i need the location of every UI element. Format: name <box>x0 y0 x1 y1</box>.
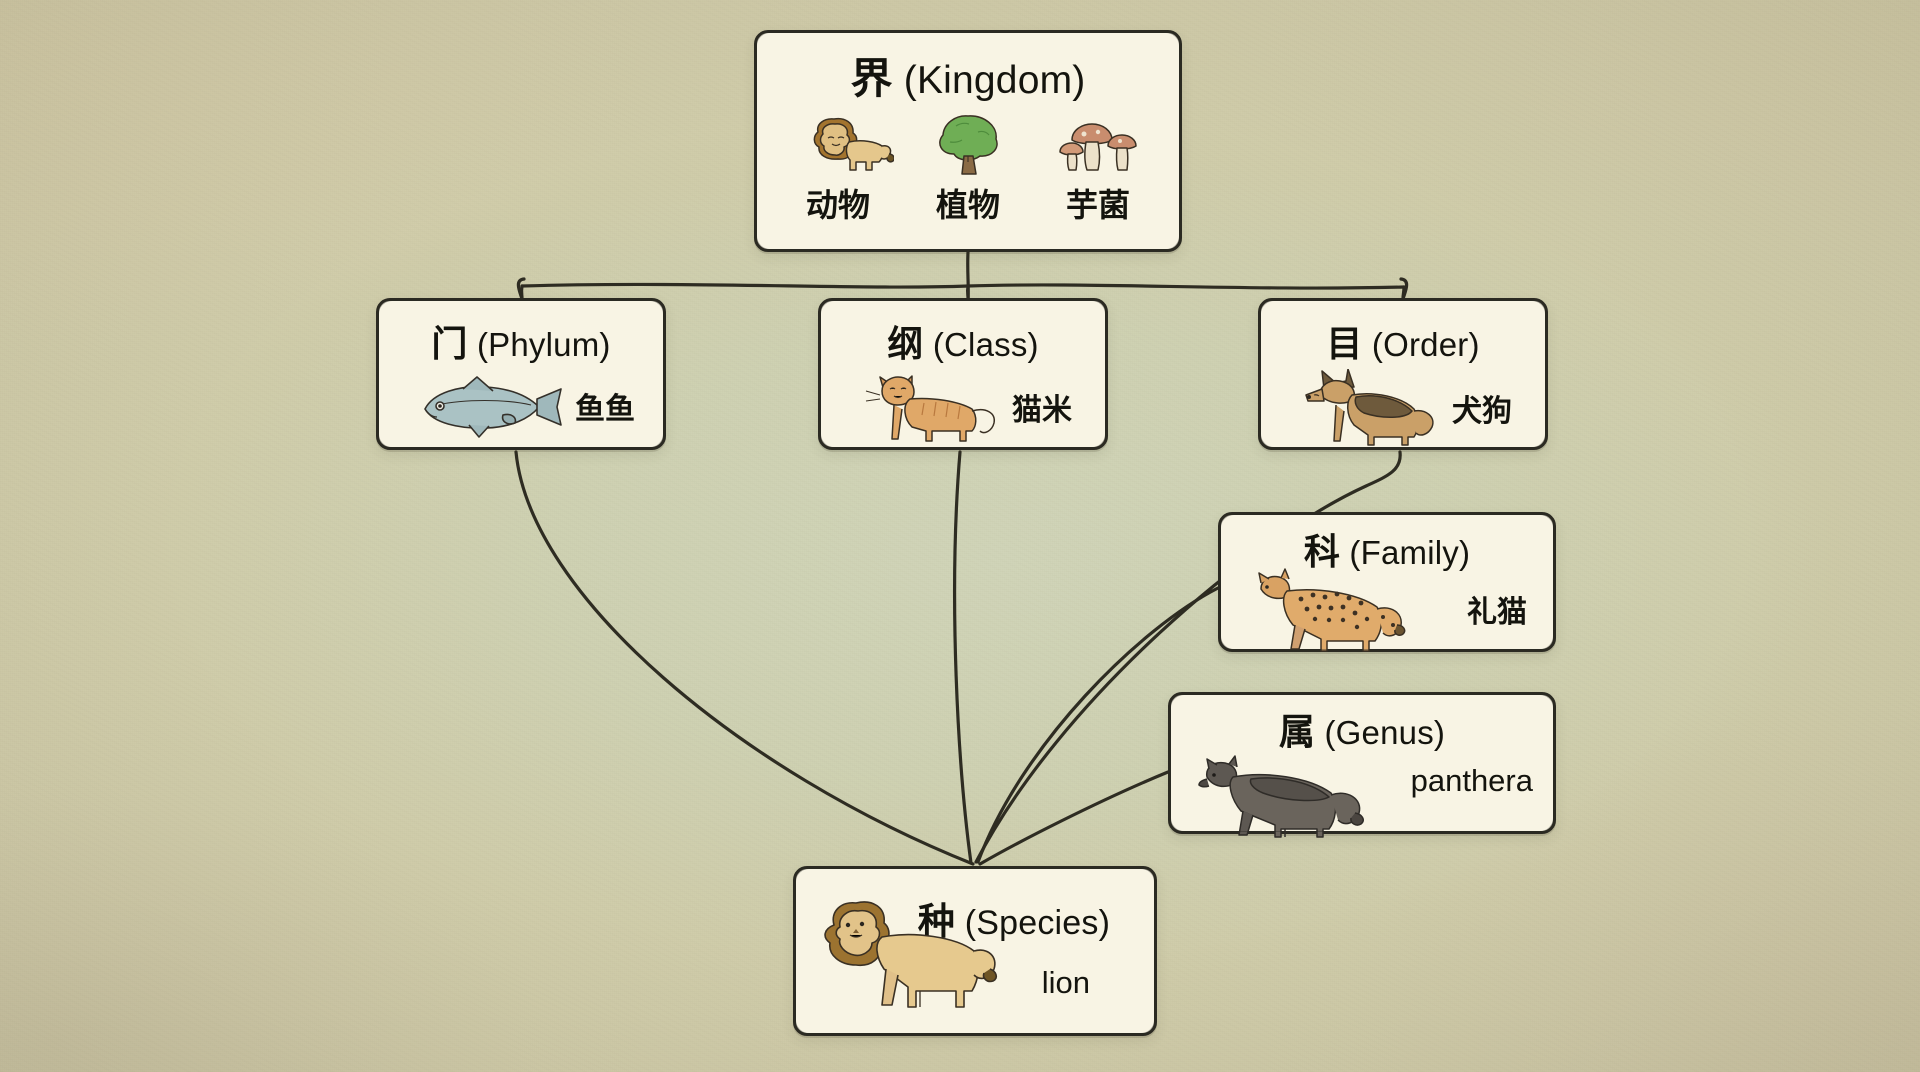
cat-icon <box>854 369 1004 445</box>
order-body: 犬狗 <box>1261 369 1545 447</box>
class-rank-latin: (Class) <box>933 326 1039 363</box>
family-caption: 礼猫 <box>1467 587 1527 631</box>
class-caption: 猫米 <box>1012 385 1072 429</box>
node-kingdom[interactable]: 界 (Kingdom) 动物 <box>754 30 1182 252</box>
order-rank-han: 目 <box>1326 324 1362 365</box>
class-title: 纲 (Class) <box>821 315 1105 367</box>
kingdom-caption-fungus: 芋菌 <box>1066 180 1130 226</box>
phylum-caption: 鱼鱼 <box>575 384 635 428</box>
kingdom-example-animal[interactable]: 动物 <box>779 112 897 226</box>
phylum-rank-han: 门 <box>431 324 467 365</box>
phylum-body: 鱼鱼 <box>379 369 663 443</box>
leopard-icon <box>1231 563 1413 655</box>
order-title: 目 (Order) <box>1261 315 1545 367</box>
family-body: 礼猫 <box>1221 575 1553 661</box>
node-class[interactable]: 纲 (Class) 猫米 <box>818 298 1108 450</box>
node-order[interactable]: 目 (Order) 犬狗 <box>1258 298 1548 450</box>
kingdom-caption-plant: 植物 <box>936 180 1000 226</box>
genus-body: panthera <box>1171 755 1553 841</box>
genus-caption: panthera <box>1411 763 1533 799</box>
panther-icon <box>1181 743 1377 839</box>
species-caption: lion <box>1042 965 1090 1001</box>
node-genus[interactable]: 属 (Genus) panthera <box>1168 692 1556 834</box>
tree-icon <box>912 112 1024 178</box>
lion-icon <box>782 112 894 178</box>
lion-icon <box>810 895 1000 1013</box>
kingdom-example-fungus[interactable]: 芋菌 <box>1039 112 1157 226</box>
order-rank-latin: (Order) <box>1372 326 1480 363</box>
phylum-title: 门 (Phylum) <box>379 315 663 367</box>
kingdom-examples: 动物 植物 <box>757 112 1179 226</box>
phylum-rank-latin: (Phylum) <box>477 326 611 363</box>
node-species[interactable]: 种 (Species) lion <box>793 866 1157 1036</box>
kingdom-rank-latin: (Kingdom) <box>904 59 1086 102</box>
mushroom-icon <box>1042 112 1154 178</box>
node-phylum[interactable]: 门 (Phylum) 鱼鱼 <box>376 298 666 450</box>
kingdom-example-plant[interactable]: 植物 <box>909 112 1027 226</box>
class-rank-han: 纲 <box>887 324 923 365</box>
node-family[interactable]: 科 (Family) <box>1218 512 1556 652</box>
fish-icon <box>407 369 567 443</box>
kingdom-title: 界 (Kingdom) <box>757 45 1179 106</box>
kingdom-caption-animal: 动物 <box>806 180 870 226</box>
order-caption: 犬狗 <box>1452 386 1512 430</box>
kingdom-rank-han: 界 <box>851 54 893 103</box>
diagram-canvas: 界 (Kingdom) 动物 <box>0 0 1920 1072</box>
class-body: 猫米 <box>821 369 1105 445</box>
dog-icon <box>1294 369 1444 447</box>
